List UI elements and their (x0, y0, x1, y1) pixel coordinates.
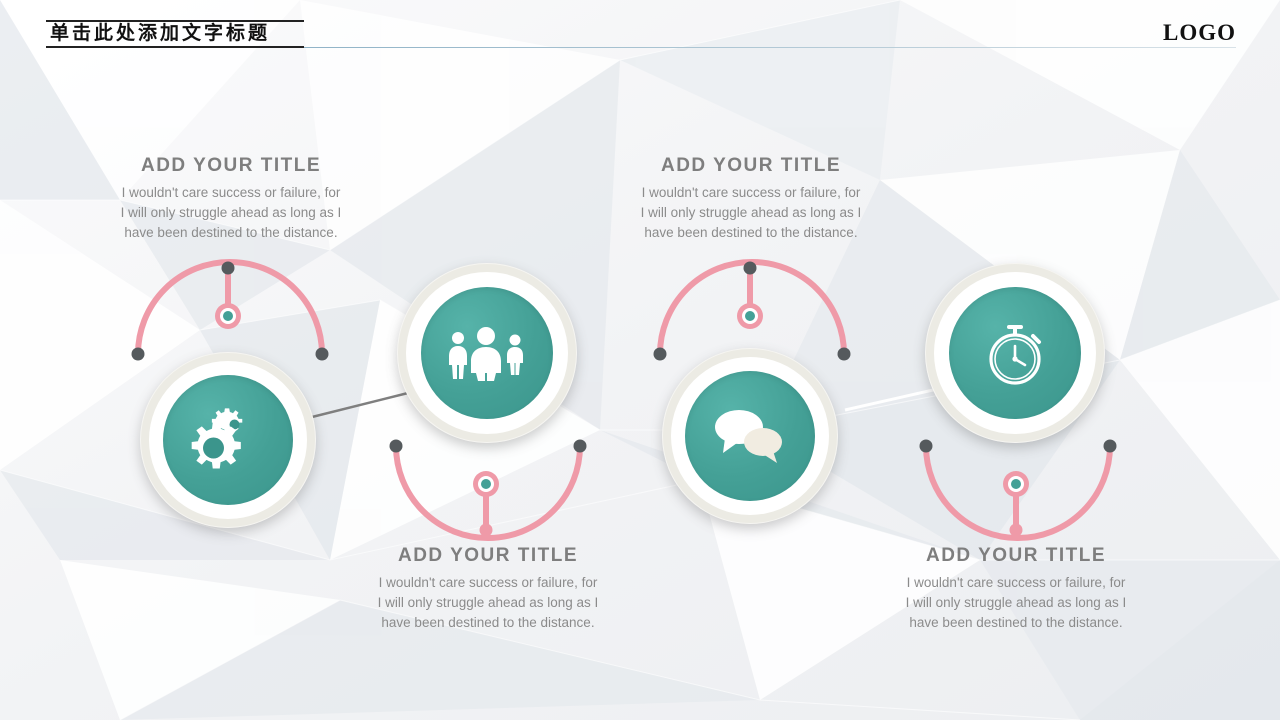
node-4-title: ADD YOUR TITLE (881, 545, 1151, 567)
node-2-line1: I wouldn't care success or failure, for (353, 573, 623, 593)
node-4[interactable] (925, 263, 1105, 443)
node-2-icon-disc[interactable] (421, 287, 553, 419)
node-3-icon-disc[interactable] (685, 371, 815, 501)
node-1-line1: I wouldn't care success or failure, for (96, 183, 366, 203)
node-2[interactable] (397, 263, 577, 443)
node-3[interactable] (662, 348, 838, 524)
node-2-title: ADD YOUR TITLE (353, 545, 623, 567)
node-1-label: ADD YOUR TITLE I wouldn't care success o… (96, 155, 366, 243)
node-3-title: ADD YOUR TITLE (616, 155, 886, 177)
node-4-arc (912, 432, 1124, 542)
stopwatch-icon (980, 317, 1050, 389)
title-underline-bottom (46, 46, 304, 48)
node-3-line1: I wouldn't care success or failure, for (616, 183, 886, 203)
node-2-arc (382, 432, 594, 542)
node-4-line1: I wouldn't care success or failure, for (881, 573, 1151, 593)
node-2-label: ADD YOUR TITLE I wouldn't care success o… (353, 545, 623, 633)
node-4-line2: I will only struggle ahead as long as I (881, 593, 1151, 613)
logo: LOGO (1163, 20, 1236, 46)
node-1-title: ADD YOUR TITLE (96, 155, 366, 177)
gears-icon (189, 408, 267, 472)
node-1-icon-disc[interactable] (163, 375, 293, 505)
node-2-line2: I will only struggle ahead as long as I (353, 593, 623, 613)
node-4-label: ADD YOUR TITLE I wouldn't care success o… (881, 545, 1151, 633)
family-group-icon (445, 325, 529, 381)
node-1-line2: I will only struggle ahead as long as I (96, 203, 366, 223)
speech-bubbles-icon (711, 405, 789, 467)
node-2-line3: have been destined to the distance. (353, 613, 623, 633)
slide-header: 单击此处添加文字标题 LOGO (0, 0, 1280, 58)
node-1-line3: have been destined to the distance. (96, 223, 366, 243)
node-1[interactable] (140, 352, 316, 528)
node-4-line3: have been destined to the distance. (881, 613, 1151, 633)
page-title: 单击此处添加文字标题 (50, 20, 306, 46)
node-4-icon-disc[interactable] (949, 287, 1081, 419)
node-3-line2: I will only struggle ahead as long as I (616, 203, 886, 223)
node-3-line3: have been destined to the distance. (616, 223, 886, 243)
node-3-label: ADD YOUR TITLE I wouldn't care success o… (616, 155, 886, 243)
